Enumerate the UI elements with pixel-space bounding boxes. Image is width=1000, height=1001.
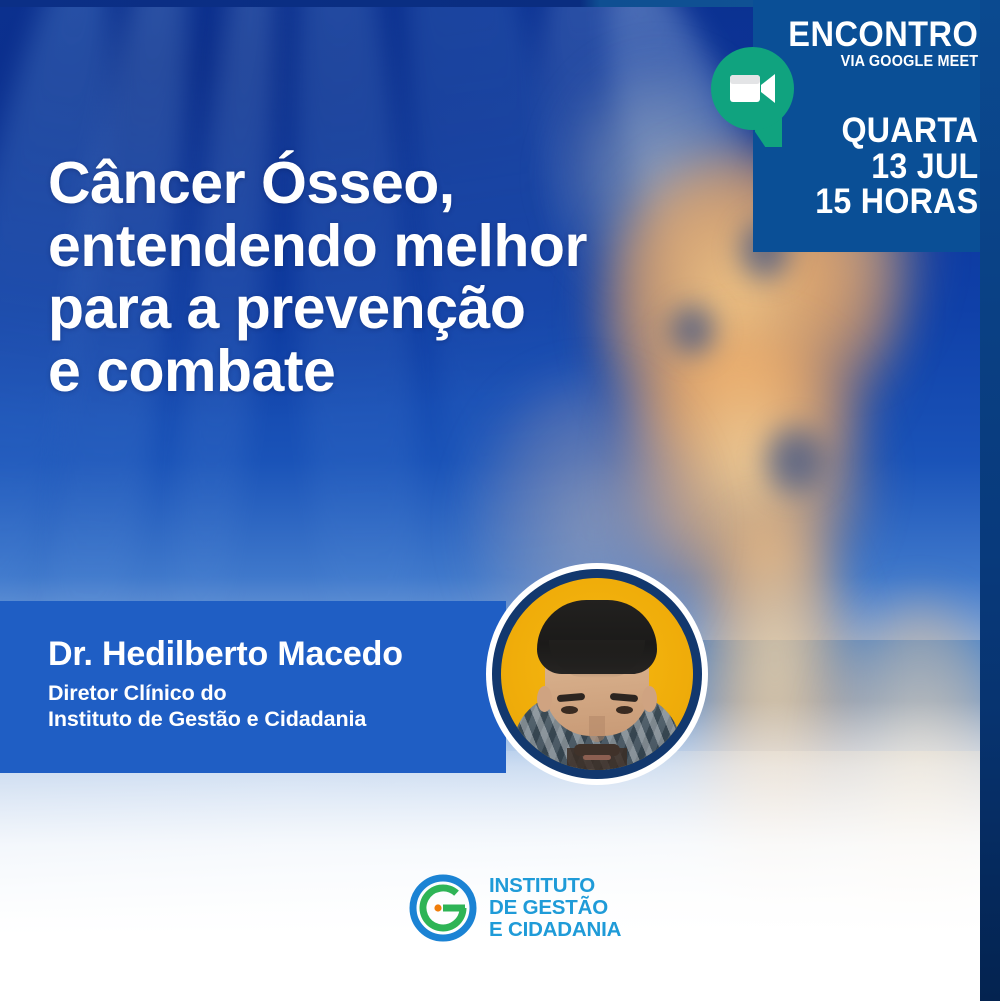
portrait-eyebrow (610, 693, 639, 702)
logo-line-3: E CIDADANIA (489, 919, 621, 941)
video-camera-icon (730, 72, 776, 105)
event-time: 15 HORAS (815, 184, 978, 220)
event-kicker-block: ENCONTRO VIA GOOGLE MEET (774, 18, 978, 70)
portrait-hair (537, 600, 657, 674)
right-edge-rail (980, 0, 1000, 1001)
event-kicker: ENCONTRO (788, 18, 978, 52)
title-line-2: entendendo melhor (48, 215, 738, 278)
speaker-portrait (486, 563, 708, 785)
title-line-3: para a prevenção (48, 277, 738, 340)
speaker-bar: Dr. Hedilberto Macedo Diretor Clínico do… (0, 601, 506, 773)
title-line-1: Câncer Ósseo, (48, 152, 738, 215)
portrait-nose (589, 716, 605, 742)
instituto-g-monogram-icon (408, 873, 478, 943)
speaker-role: Diretor Clínico do Instituto de Gestão e… (48, 680, 366, 732)
event-date: 13 JUL (815, 149, 978, 185)
logo-line-1: INSTITUTO (489, 875, 621, 897)
portrait-mouth (583, 755, 611, 760)
portrait-ear (642, 686, 657, 712)
poster-title: Câncer Ósseo, entendendo melhor para a p… (48, 152, 738, 402)
event-datetime-block: QUARTA 13 JUL 15 HORAS (815, 113, 978, 220)
google-meet-badge (711, 47, 794, 130)
portrait-eyebrow (557, 693, 586, 702)
event-platform: VIA GOOGLE MEET (788, 54, 978, 70)
portrait-eye (561, 706, 578, 714)
xray-socket-shadow (760, 420, 830, 500)
event-weekday: QUARTA (815, 113, 978, 149)
portrait-eye (616, 706, 633, 714)
speaker-name: Dr. Hedilberto Macedo (48, 637, 403, 671)
speaker-role-line-1: Diretor Clínico do (48, 680, 366, 706)
institute-logo-text: INSTITUTO DE GESTÃO E CIDADANIA (489, 875, 621, 941)
portrait-photo (501, 578, 693, 770)
title-line-4: e combate (48, 340, 738, 403)
logo-line-2: DE GESTÃO (489, 897, 621, 919)
speaker-role-line-2: Instituto de Gestão e Cidadania (48, 706, 366, 732)
event-poster: ENCONTRO VIA GOOGLE MEET QUARTA 13 JUL 1… (0, 0, 1000, 1001)
portrait-ear (537, 686, 552, 712)
institute-logo: INSTITUTO DE GESTÃO E CIDADANIA (408, 872, 613, 944)
